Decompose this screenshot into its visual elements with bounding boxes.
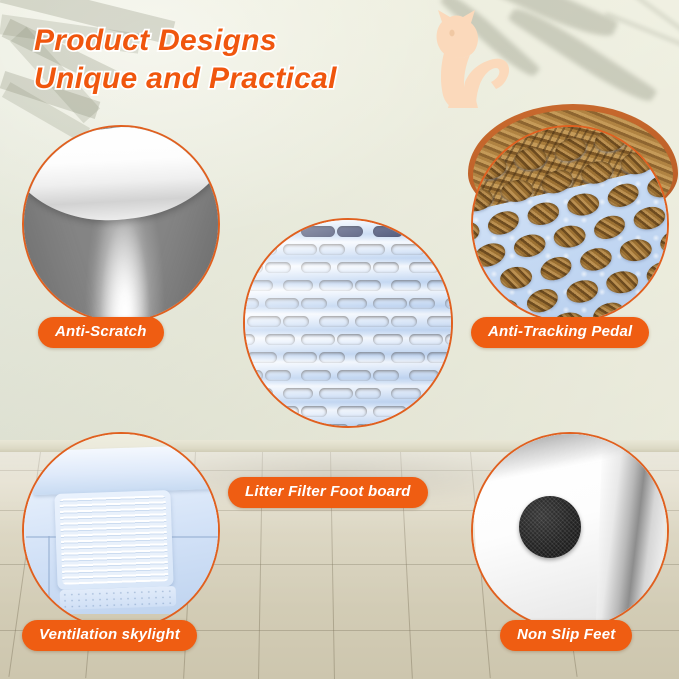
pedal-litter-hole [512, 231, 548, 260]
pedal-litter-hole [643, 257, 669, 289]
feature-photo-non-slip-feet[interactable] [471, 432, 669, 630]
feature-label-anti-tracking-pedal[interactable]: Anti-Tracking Pedal [471, 317, 649, 348]
poster-title: Product Designs Unique and Practical [34, 22, 454, 99]
pedal-litter-hole [471, 186, 495, 215]
feature-photo-anti-scratch[interactable] [22, 125, 220, 323]
pedal-litter-hole [578, 245, 614, 274]
feature-label-non-slip-feet[interactable]: Non Slip Feet [500, 620, 632, 651]
pedal-litter-hole [564, 277, 600, 306]
pedal-litter-hole [630, 291, 666, 320]
pedal-litter-hole [513, 146, 547, 171]
feature-photo-litter-filter-foot-board[interactable] [243, 218, 453, 428]
pedal-litter-hole [631, 204, 667, 233]
feature-photo-ventilation-skylight[interactable] [22, 432, 220, 630]
pedal-litter-hole [579, 158, 615, 187]
pedal-litter-hole [525, 199, 561, 228]
pedal-litter-hole [473, 154, 509, 183]
pedal-litter-hole [604, 179, 642, 211]
pedal-litter-hole [552, 224, 586, 249]
pedal-litter-hole [499, 265, 533, 290]
title-line-1: Product Designs [34, 22, 454, 60]
feature-label-ventilation-skylight[interactable]: Ventilation skylight [22, 620, 197, 651]
pedal-litter-hole [619, 237, 653, 262]
pedal-litter-hole [471, 239, 509, 271]
pedal-litter-hole [620, 151, 654, 176]
pedal-litter-hole [605, 269, 639, 294]
pedal-litter-hole [592, 126, 628, 155]
pedal-litter-hole [591, 211, 629, 243]
pedal-litter-hole [471, 219, 481, 244]
title-line-2: Unique and Practical [34, 60, 454, 98]
pedal-litter-hole [471, 273, 494, 302]
pedal-litter-hole [537, 253, 575, 285]
pedal-litter-hole [645, 172, 669, 201]
pedal-litter-hole [552, 134, 590, 166]
pedal-litter-hole [485, 207, 523, 239]
pedal-litter-hole [538, 166, 576, 198]
pedal-litter-hole [524, 285, 562, 317]
feature-label-litter-filter-foot-board[interactable]: Litter Filter Foot board [228, 477, 428, 508]
product-feature-infographic: Product Designs Unique and Practical Ant… [0, 0, 679, 679]
feature-label-anti-scratch[interactable]: Anti-Scratch [38, 317, 164, 348]
pedal-litter-hole [500, 178, 534, 203]
pedal-litter-hole [633, 125, 667, 144]
pedal-litter-hole [566, 192, 600, 217]
feature-photo-anti-tracking-pedal[interactable] [471, 125, 669, 323]
